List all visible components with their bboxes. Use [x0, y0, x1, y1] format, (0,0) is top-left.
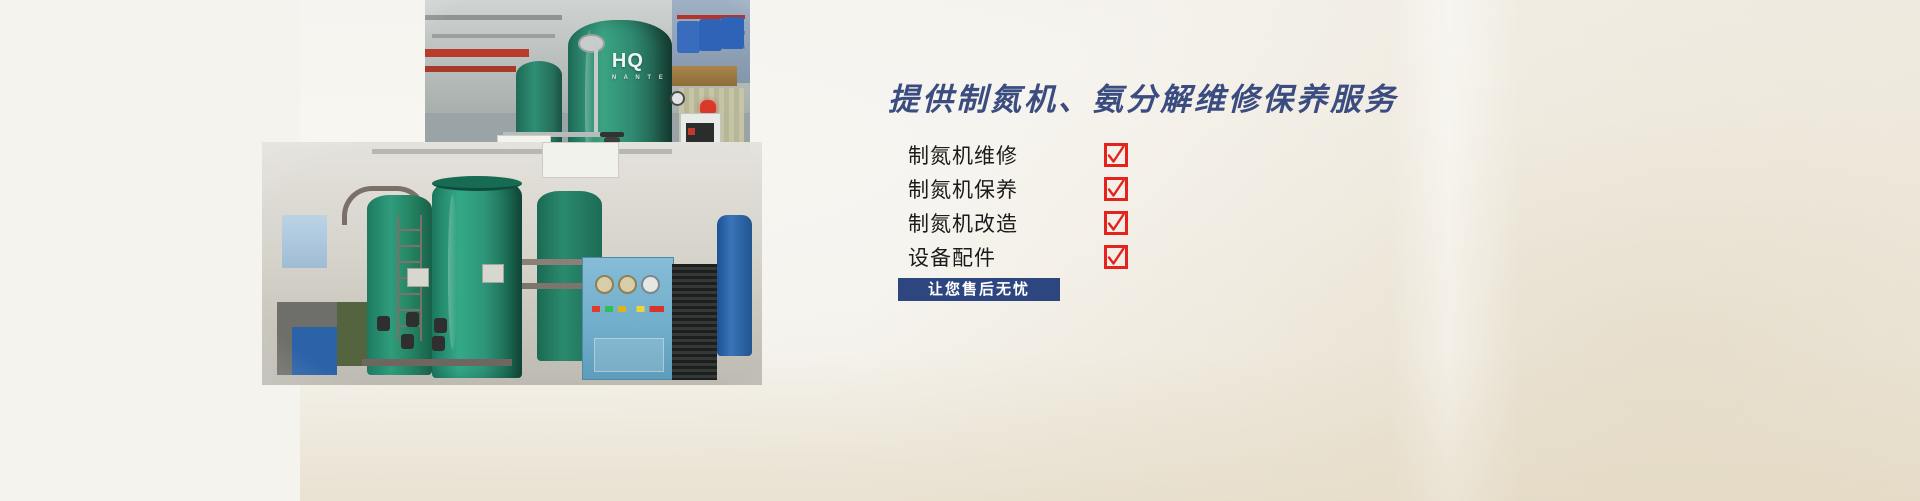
service-list-item[interactable]: 制氮机保养: [908, 174, 1268, 206]
cta-button[interactable]: 让您售后无忧: [898, 278, 1060, 301]
checkbox-checked-icon: [1104, 143, 1128, 167]
service-list-item[interactable]: 设备配件: [908, 242, 1268, 274]
junction-box-right: [482, 264, 504, 283]
banner-headline: 提供制氮机、氨分解维修保养服务: [888, 74, 1398, 119]
blue-filter-vessel: [717, 215, 752, 356]
service-list-item[interactable]: 制氮机改造: [908, 208, 1268, 240]
promo-banner: HQ N A N T E: [0, 0, 1920, 501]
photo-collage: HQ N A N T E: [0, 0, 900, 420]
tank-brand-logo: HQ N A N T E: [612, 50, 666, 81]
valve-manifold: [372, 312, 502, 351]
cabinet-access-door: [594, 338, 664, 372]
wall-window: [282, 215, 327, 268]
service-label: 设备配件: [908, 242, 996, 274]
ceiling-beam-secondary: [432, 34, 556, 38]
green-cabinet: [337, 302, 367, 365]
equipment-placard: [542, 142, 619, 178]
overhead-rail: [372, 149, 672, 154]
cta-button-label: 让您售后无忧: [928, 282, 1030, 297]
vertical-pipe: [594, 44, 598, 137]
tank-lid-flange: [432, 176, 522, 191]
pressure-gauge: [670, 91, 685, 106]
cabinet-indicator-lights: [592, 306, 664, 312]
service-list-item[interactable]: 制氮机维修: [908, 140, 1268, 172]
nitrogen-generator-skid-photo: [262, 142, 762, 385]
red-rack-beam-lower: [425, 66, 516, 72]
service-label: 制氮机保养: [908, 174, 1018, 206]
tank-brand-text: HQ: [612, 50, 644, 72]
tank-brand-subtext: N A N T E: [612, 75, 666, 81]
blue-crate: [292, 327, 337, 376]
service-label: 制氮机维修: [908, 140, 1018, 172]
red-rack-beam: [425, 49, 529, 57]
skid-control-cabinet: [582, 257, 674, 381]
blue-barrel-stack: [721, 17, 744, 49]
checkbox-checked-icon: [1104, 211, 1128, 235]
photo-scene: [262, 142, 762, 385]
pipe-flange: [578, 34, 605, 53]
ceiling-beam: [425, 15, 562, 20]
service-label: 制氮机改造: [908, 208, 1018, 240]
condenser-radiator: [672, 264, 717, 381]
process-pipe-bottom: [362, 359, 512, 366]
junction-box-left: [407, 268, 429, 287]
cabinet-gauges: [592, 275, 664, 297]
banner-content: 提供制氮机、氨分解维修保养服务 制氮机维修 制氮机保养: [880, 0, 1500, 501]
checkbox-checked-icon: [1104, 245, 1128, 269]
service-list: 制氮机维修 制氮机保养 制氮机改造: [908, 140, 1268, 276]
checkbox-checked-icon: [1104, 177, 1128, 201]
red-warning-beacon: [700, 100, 716, 113]
